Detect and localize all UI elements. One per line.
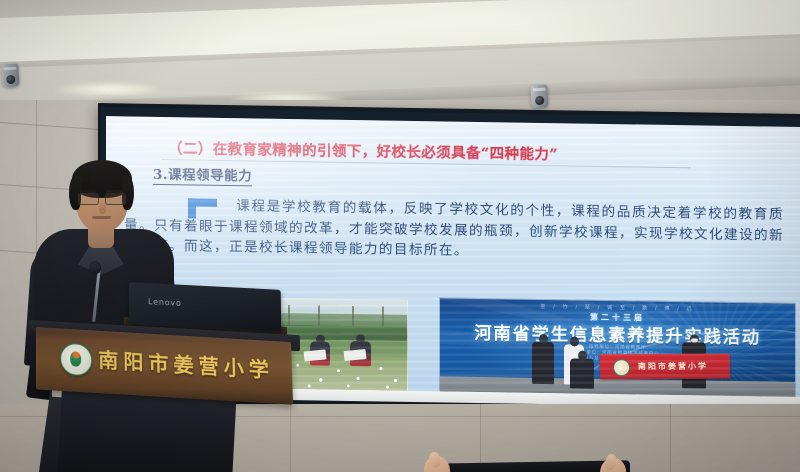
photo-person: [532, 342, 554, 384]
photo-person-face-mask: [691, 338, 698, 342]
speaker-nose: [99, 203, 106, 214]
speaker-mouth: [92, 216, 111, 219]
competition-stage-photo: 至 / 竹 / 至 / 诚 至 / 勤 / 博 / 远 第二十三届 河南省学生信…: [439, 297, 796, 400]
eyeglasses-bridge: [97, 197, 107, 198]
photo-person-head: [570, 336, 579, 346]
photo-person-head: [539, 334, 548, 344]
ceiling-downlight: [55, 82, 160, 97]
photo-red-banner-text: 南阳市姜营小学: [638, 361, 708, 372]
laptop-lid[interactable]: Lenovo: [129, 282, 281, 332]
photo-person-head: [578, 351, 587, 361]
microphone-icon: [89, 261, 101, 274]
slide-body-paragraph: 课程是学校教育的载体，反映了学校文化的个性，课程的品质决定着学校的教育质量。只有…: [124, 198, 784, 259]
security-camera-icon: [1, 63, 20, 87]
screenshot-root: （二）在教育家精神的引领下，好校长必须具备“四种能力” 3.课程领导能力 课程是…: [0, 0, 800, 472]
laptop-brand-label: Lenovo: [148, 297, 182, 308]
wall-seam: [670, 404, 671, 472]
photo-student-head: [316, 334, 325, 343]
slide-subtitle: 3.课程领导能力: [153, 163, 252, 187]
slide-title-paren: （二）: [168, 140, 213, 158]
wall-seam: [290, 404, 291, 472]
photo-student: [310, 341, 330, 365]
security-camera-icon: [530, 85, 548, 109]
photo-school-crest-icon: [613, 359, 630, 376]
photo-school-red-banner: 南阳市姜营小学: [600, 354, 730, 380]
slide-body-text: 课程是学校教育的载体，反映了学校文化的个性，课程的品质决定着学校的教育质量。只有…: [124, 194, 784, 266]
school-crest-logo-icon: [60, 342, 92, 376]
photo-person: [570, 358, 594, 388]
photo-open-book: [304, 349, 327, 361]
wall-seam: [480, 404, 481, 472]
photo-student: [350, 341, 371, 366]
photo-open-book: [344, 349, 367, 361]
podium-sign-text: 南阳市姜营小学: [98, 344, 274, 384]
photo-student-head: [356, 334, 365, 343]
wall-seam: [0, 122, 100, 130]
